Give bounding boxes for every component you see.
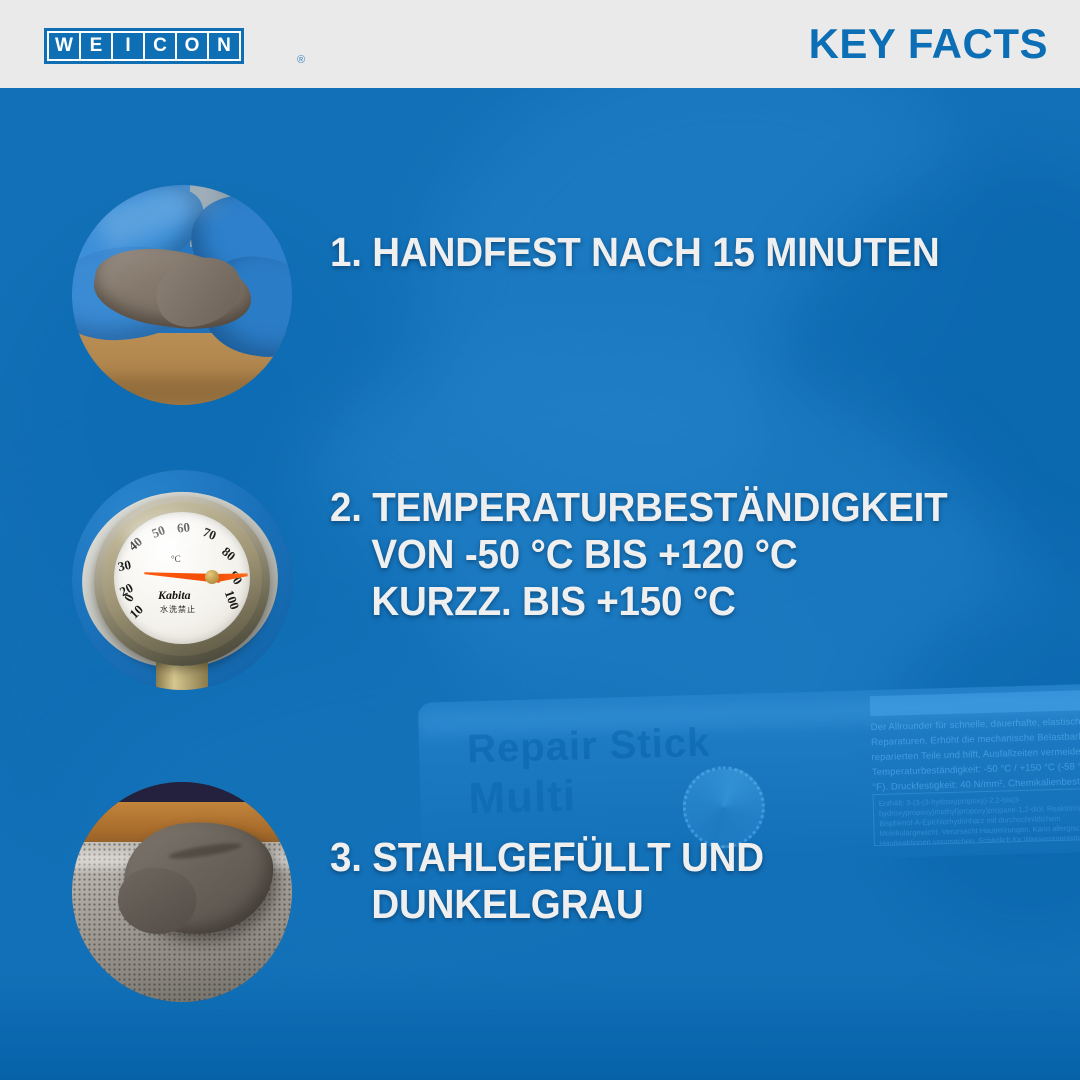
fact-3-line-1: 3. STAHLGEFÜLLT UND [330, 834, 1007, 881]
weicon-logo-tiles: W E I C O N [47, 31, 241, 61]
header-bar: W E I C O N ® KEY FACTS [0, 0, 1080, 88]
dial-thermometer-photo: 0 10 20 30 40 50 60 70 80 90 100 °C Kabi… [72, 470, 292, 690]
fact-3-thumbnail [72, 782, 292, 1002]
logo-tile-n: N [209, 33, 239, 59]
fact-1-thumbnail [72, 185, 292, 405]
fact-2-line-3: KURZZ. BIS +150 °C [330, 578, 1007, 625]
registered-trademark-icon: ® [297, 55, 305, 66]
fact-1-text: 1. HANDFEST NACH 15 MINUTEN [330, 229, 1007, 276]
logo-tile-o: O [177, 33, 207, 59]
key-facts-graphic: Repair Stick Multi Der Allrounder für sc… [0, 0, 1080, 1080]
cured-grey-putty-on-metal-photo [72, 782, 292, 1002]
fact-2-line-2: VON -50 °C BIS +120 °C [330, 531, 1007, 578]
thermometer-cjk-label: 水洗禁止 [160, 604, 196, 615]
fact-1-line-1: 1. HANDFEST NACH 15 MINUTEN [330, 229, 1007, 276]
fact-2-text: 2. TEMPERATURBESTÄNDIGKEIT VON -50 °C BI… [330, 484, 1007, 625]
thermometer-brand-label: Kabita [158, 588, 191, 603]
thermometer-needle-hub [205, 570, 219, 584]
gloved-hands-kneading-putty-photo [72, 185, 292, 405]
thermometer-unit-label: °C [171, 554, 181, 564]
facts-list: 1. HANDFEST NACH 15 MINUTEN 0 10 20 30 4… [0, 88, 1080, 1080]
fact-3-text: 3. STAHLGEFÜLLT UND DUNKELGRAU [330, 834, 1007, 928]
fact-3-line-2: DUNKELGRAU [330, 881, 1007, 928]
logo-tile-w: W [49, 33, 79, 59]
page-title: KEY FACTS [809, 18, 1048, 70]
logo-tile-i: I [113, 33, 143, 59]
weicon-logo[interactable]: W E I C O N ® [44, 28, 244, 64]
fact-2-thumbnail: 0 10 20 30 40 50 60 70 80 90 100 °C Kabi… [72, 470, 292, 690]
logo-tile-e: E [81, 33, 111, 59]
fact-2-line-1: 2. TEMPERATURBESTÄNDIGKEIT [330, 484, 1007, 531]
logo-tile-c: C [145, 33, 175, 59]
